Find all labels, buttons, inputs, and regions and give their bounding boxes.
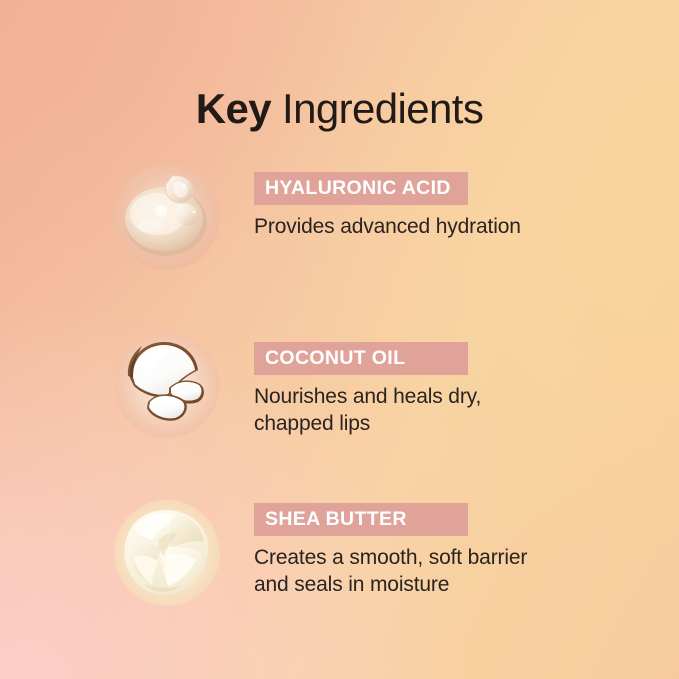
ingredient-row: COCONUT OIL Nourishes and heals dry, cha… bbox=[0, 325, 679, 445]
key-ingredients-infographic: Key Ingredients bbox=[0, 0, 679, 679]
ingredient-text-block: HYALURONIC ACID Provides advanced hydrat… bbox=[254, 157, 654, 240]
ingredient-description: Nourishes and heals dry, chapped lips bbox=[254, 383, 654, 437]
ingredient-name-badge: HYALURONIC ACID bbox=[254, 172, 468, 205]
coconut-pieces-photo bbox=[114, 332, 220, 438]
ingredient-row: HYALURONIC ACID Provides advanced hydrat… bbox=[0, 157, 679, 277]
ingredient-name-badge: COCONUT OIL bbox=[254, 342, 468, 375]
ingredient-description: Provides advanced hydration bbox=[254, 213, 654, 240]
ingredient-name-badge: SHEA BUTTER bbox=[254, 503, 468, 536]
ingredient-row: SHEA BUTTER Creates a smooth, soft barri… bbox=[0, 493, 679, 613]
page-title-light: Ingredients bbox=[271, 85, 483, 132]
hyaluronic-acid-gel-droplet-photo bbox=[114, 164, 220, 270]
page-title: Key Ingredients bbox=[0, 86, 679, 132]
shea-butter-chunks-photo bbox=[114, 500, 220, 606]
ingredient-description: Creates a smooth, soft barrier and seals… bbox=[254, 544, 654, 598]
page-title-strong: Key bbox=[196, 85, 271, 132]
ingredient-text-block: SHEA BUTTER Creates a smooth, soft barri… bbox=[254, 493, 654, 598]
ingredient-text-block: COCONUT OIL Nourishes and heals dry, cha… bbox=[254, 325, 654, 437]
